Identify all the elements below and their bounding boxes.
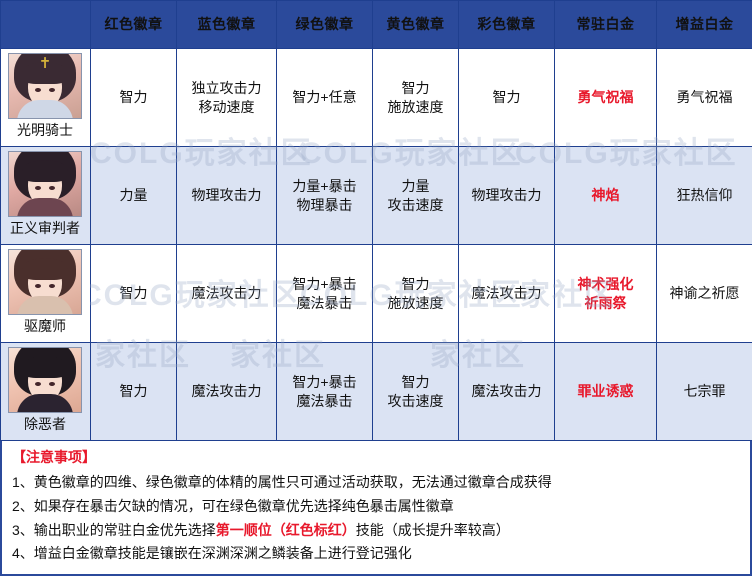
cell-permanent-platinum: 罪业诱惑 <box>555 343 657 441</box>
note-line-3-tail: 技能（成长提升率较高） <box>356 522 510 538</box>
notes-title: 【注意事项】 <box>12 447 740 467</box>
cell-color-badge: 魔法攻击力 <box>459 343 555 441</box>
character-cell: 除恶者 <box>1 343 91 441</box>
header-cell-buff-platinum: 增益白金 <box>657 1 752 49</box>
female-paladin-portrait: ✝ <box>8 53 82 119</box>
note-line-3-text: 3、输出职业的常驻白金优先选择 <box>12 522 216 538</box>
character-name: 除恶者 <box>24 415 66 434</box>
cell-blue-badge: 独立攻击力 移动速度 <box>177 49 277 147</box>
cell-green-badge: 智力+暴击 魔法暴击 <box>277 245 373 343</box>
table-body: ✝ 光明骑士 智力 独立攻击力 移动速度 智力+任意 智力 施放速度 智力 <box>1 49 752 441</box>
cell-green-badge: 智力+任意 <box>277 49 373 147</box>
table-row: 驱魔师 智力 魔法攻击力 智力+暴击 魔法暴击 智力 施放速度 魔法攻击力 神术… <box>1 245 752 343</box>
cell-color-badge: 魔法攻击力 <box>459 245 555 343</box>
character-cell: 正义审判者 <box>1 147 91 245</box>
female-inquisitor-portrait <box>8 151 82 217</box>
cell-yellow-badge: 力量 攻击速度 <box>373 147 459 245</box>
table-header: 红色徽章 蓝色徽章 绿色徽章 黄色徽章 彩色徽章 常驻白金 增益白金 <box>1 1 752 49</box>
header-cell-class <box>1 1 91 49</box>
cell-green-badge: 智力+暴击 魔法暴击 <box>277 343 373 441</box>
cell-color-badge: 智力 <box>459 49 555 147</box>
cross-icon: ✝ <box>39 56 52 71</box>
cell-buff-platinum: 神谕之祈愿 <box>657 245 752 343</box>
cell-yellow-badge: 智力 施放速度 <box>373 49 459 147</box>
note-line-4: 4、增益白金徽章技能是镶嵌在深渊深渊之鳞装备上进行登记强化 <box>12 542 740 566</box>
table-row: 除恶者 智力 魔法攻击力 智力+暴击 魔法暴击 智力 攻击速度 魔法攻击力 罪业… <box>1 343 752 441</box>
cell-permanent-platinum: 神焰 <box>555 147 657 245</box>
female-mistress-portrait <box>8 347 82 413</box>
page-root: COLG玩家社区 COLG玩家社区 COLG玩家社区 COLG玩家社区 COLG… <box>0 0 752 585</box>
cell-yellow-badge: 智力 施放速度 <box>373 245 459 343</box>
note-line-1: 1、黄色徽章的四维、绿色徽章的体精的属性只可通过活动获取，无法通过徽章合成获得 <box>12 471 740 495</box>
character-cell: ✝ 光明骑士 <box>1 49 91 147</box>
note-line-2: 2、如果存在暴击欠缺的情况，可在绿色徽章优先选择纯色暴击属性徽章 <box>12 495 740 519</box>
header-cell-blue-badge: 蓝色徽章 <box>177 1 277 49</box>
cell-green-badge: 力量+暴击 物理暴击 <box>277 147 373 245</box>
cell-permanent-platinum: 神术强化 祈雨祭 <box>555 245 657 343</box>
character-name: 正义审判者 <box>10 219 80 238</box>
cell-color-badge: 物理攻击力 <box>459 147 555 245</box>
cell-blue-badge: 物理攻击力 <box>177 147 277 245</box>
character-name: 驱魔师 <box>24 317 66 336</box>
character-cell: 驱魔师 <box>1 245 91 343</box>
cell-red-badge: 智力 <box>91 343 177 441</box>
female-exorcist-portrait <box>8 249 82 315</box>
header-cell-permanent-platinum: 常驻白金 <box>555 1 657 49</box>
header-cell-yellow-badge: 黄色徽章 <box>373 1 459 49</box>
cell-permanent-platinum: 勇气祝福 <box>555 49 657 147</box>
character-name: 光明骑士 <box>17 121 73 140</box>
note-line-3: 3、输出职业的常驻白金优先选择第一顺位（红色标红）技能（成长提升率较高） <box>12 519 740 543</box>
cell-buff-platinum: 勇气祝福 <box>657 49 752 147</box>
note-line-3-highlight: 第一顺位（红色标红） <box>216 522 356 538</box>
header-cell-red-badge: 红色徽章 <box>91 1 177 49</box>
cell-red-badge: 力量 <box>91 147 177 245</box>
cell-yellow-badge: 智力 攻击速度 <box>373 343 459 441</box>
cell-blue-badge: 魔法攻击力 <box>177 245 277 343</box>
table-row: ✝ 光明骑士 智力 独立攻击力 移动速度 智力+任意 智力 施放速度 智力 <box>1 49 752 147</box>
header-cell-green-badge: 绿色徽章 <box>277 1 373 49</box>
cell-red-badge: 智力 <box>91 49 177 147</box>
badge-recommendation-table: 红色徽章 蓝色徽章 绿色徽章 黄色徽章 彩色徽章 常驻白金 增益白金 <box>0 0 752 441</box>
cell-blue-badge: 魔法攻击力 <box>177 343 277 441</box>
cell-red-badge: 智力 <box>91 245 177 343</box>
table-row: 正义审判者 力量 物理攻击力 力量+暴击 物理暴击 力量 攻击速度 物理攻击力 … <box>1 147 752 245</box>
header-row: 红色徽章 蓝色徽章 绿色徽章 黄色徽章 彩色徽章 常驻白金 增益白金 <box>1 1 752 49</box>
cell-buff-platinum: 七宗罪 <box>657 343 752 441</box>
notes-panel: 【注意事项】 1、黄色徽章的四维、绿色徽章的体精的属性只可通过活动获取，无法通过… <box>0 441 752 576</box>
cell-buff-platinum: 狂热信仰 <box>657 147 752 245</box>
header-cell-color-badge: 彩色徽章 <box>459 1 555 49</box>
